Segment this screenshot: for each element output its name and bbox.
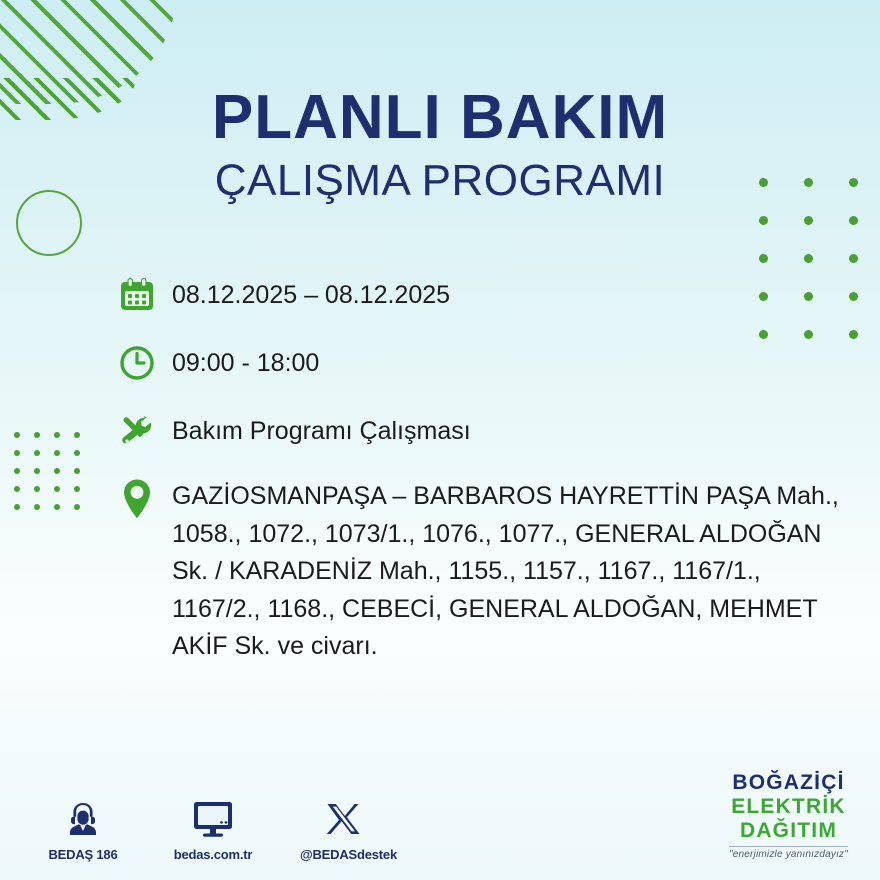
poster-header: PLANLI BAKIM ÇALIŞMA PROGRAMI — [0, 86, 880, 208]
work-type-text: Bakım Programı Çalışması — [172, 408, 471, 450]
maintenance-details: 08.12.2025 – 08.12.2025 09:00 - 18:00 — [118, 272, 858, 666]
location-pin-icon — [118, 476, 172, 522]
page-title: PLANLI BAKIM — [0, 86, 880, 149]
detail-row-time: 09:00 - 18:00 — [118, 340, 858, 386]
dot-grid-decoration-left — [14, 432, 80, 510]
bedas-logo: BOĞAZİÇİ ELEKTRİK DAĞITIM "enerjimizle y… — [729, 772, 848, 860]
footer-link-call-center[interactable]: BEDAŞ 186 — [40, 794, 126, 862]
footer-link-social[interactable]: @BEDASdestek — [300, 794, 386, 862]
clock-icon — [118, 340, 172, 386]
detail-row-work-type: Bakım Programı Çalışması — [118, 408, 858, 454]
logo-tagline: "enerjimizle yanınızdayız" — [729, 846, 848, 860]
logo-line-elektrik: ELEKTRİK — [729, 796, 848, 817]
monitor-icon — [170, 794, 256, 840]
support-headset-icon — [40, 794, 126, 840]
date-range-text: 08.12.2025 – 08.12.2025 — [172, 272, 450, 314]
footer-link-label: BEDAŞ 186 — [40, 847, 126, 862]
page-subtitle: ÇALIŞMA PROGRAMI — [0, 155, 880, 208]
planned-maintenance-poster: PLANLI BAKIM ÇALIŞMA PROGRAMI — [0, 0, 880, 880]
footer-contact-links: BEDAŞ 186 bedas.com.tr @B — [40, 794, 386, 862]
detail-row-date: 08.12.2025 – 08.12.2025 — [118, 272, 858, 318]
logo-line-dagitim: DAĞITIM — [729, 820, 848, 841]
x-twitter-icon — [300, 794, 386, 840]
address-text: GAZİOSMANPAŞA – BARBAROS HAYRETTİN PAŞA … — [172, 476, 852, 666]
footer-link-label: bedas.com.tr — [170, 847, 256, 862]
calendar-icon — [118, 272, 172, 318]
footer-link-website[interactable]: bedas.com.tr — [170, 794, 256, 862]
time-range-text: 09:00 - 18:00 — [172, 340, 319, 382]
detail-row-address: GAZİOSMANPAŞA – BARBAROS HAYRETTİN PAŞA … — [118, 476, 858, 666]
footer-link-label: @BEDASdestek — [300, 847, 386, 862]
logo-line-bogazici: BOĞAZİÇİ — [729, 772, 848, 793]
tools-icon — [118, 408, 172, 454]
